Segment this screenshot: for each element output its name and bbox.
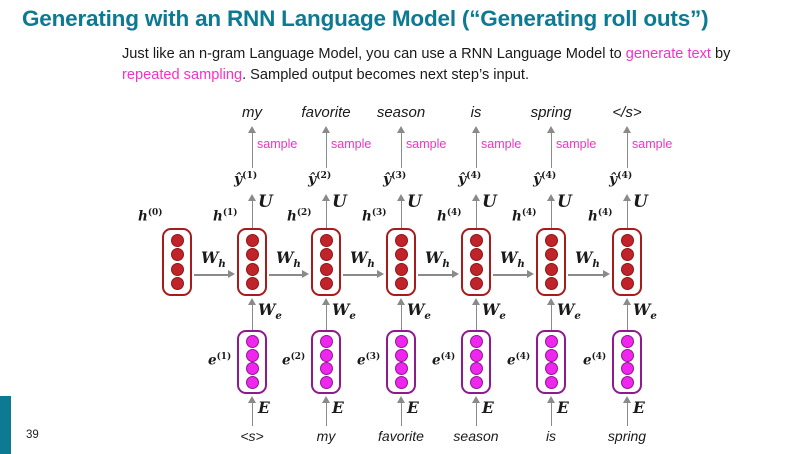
arrow-shaft <box>194 274 230 276</box>
we-arrow-6 <box>623 298 632 330</box>
E-arrow-3 <box>397 396 406 426</box>
we-arrow-3 <box>397 298 406 330</box>
E-label-6: E <box>633 398 645 417</box>
input-word-6: spring <box>608 428 646 444</box>
hidden-unit-node <box>545 263 558 276</box>
arrow-shaft <box>627 303 629 330</box>
hidden-state-label-4: h(4) <box>437 208 461 225</box>
arrow-head-icon <box>377 270 384 278</box>
embedding-label-5: e(4) <box>507 352 530 369</box>
wh-arrow-4 <box>493 270 534 279</box>
hidden-state-label-1: h(1) <box>213 208 237 225</box>
hidden-unit-node <box>621 263 634 276</box>
hidden-state-label-5: h(4) <box>512 208 536 225</box>
arrow-head-icon <box>228 270 235 278</box>
slide-canvas: Generating with an RNN Language Model (“… <box>0 0 812 454</box>
arrow-head-icon <box>603 270 610 278</box>
arrow-shaft <box>401 199 403 228</box>
arrow-shaft <box>551 199 553 228</box>
arrow-shaft <box>401 303 403 330</box>
arrow-head-icon <box>302 270 309 278</box>
embedding-unit-node <box>621 362 634 375</box>
arrow-shaft <box>326 401 328 426</box>
arrow-shaft <box>627 401 629 426</box>
arrow-shaft <box>252 303 254 330</box>
sample-label-6: sample <box>632 137 672 151</box>
wh-label-0: Wh <box>201 248 226 270</box>
arrow-shaft <box>343 274 379 276</box>
output-dist-label-5: ŷ(4) <box>533 170 556 188</box>
hidden-state-label-6: h(4) <box>588 208 612 225</box>
E-arrow-5 <box>547 396 556 426</box>
U-arrow-6 <box>623 194 632 228</box>
wh-arrow-1 <box>269 270 309 279</box>
hidden-unit-node <box>545 277 558 290</box>
input-word-5: is <box>546 428 556 444</box>
subtitle-text: Just like an n-gram Language Model, you … <box>122 44 742 86</box>
embedding-unit-node <box>621 349 634 362</box>
embedding-label-2: e(2) <box>282 352 305 369</box>
subtitle-part-2: by <box>711 46 730 62</box>
subtitle-part-3: . Sampled output becomes next step’s inp… <box>242 67 529 83</box>
output-dist-label-6: ŷ(4) <box>609 170 632 188</box>
hidden-unit-node <box>621 277 634 290</box>
embedding-box-6 <box>612 330 642 394</box>
embedding-label-3: e(3) <box>357 352 380 369</box>
wh-arrow-3 <box>418 270 459 279</box>
wh-label-5: Wh <box>575 248 600 270</box>
embedding-unit-node <box>621 376 634 389</box>
arrow-shaft <box>326 303 328 330</box>
arrow-shaft <box>493 274 529 276</box>
embedding-unit-node <box>545 376 558 389</box>
arrow-shaft <box>401 401 403 426</box>
hidden-state-box-6 <box>612 228 642 296</box>
arrow-shaft <box>269 274 304 276</box>
output-dist-label-4: ŷ(4) <box>458 170 481 188</box>
hidden-unit-node <box>621 248 634 261</box>
U-arrow-2 <box>322 194 331 228</box>
arrow-shaft <box>551 401 553 426</box>
E-arrow-6 <box>623 396 632 426</box>
E-arrow-4 <box>472 396 481 426</box>
output-dist-label-3: ŷ(3) <box>383 170 406 188</box>
wh-label-1: Wh <box>276 248 301 270</box>
arrow-head-icon <box>527 270 534 278</box>
wh-arrow-0 <box>194 270 235 279</box>
sample-arrow-5 <box>547 126 556 168</box>
subtitle-part-1: Just like an n-gram Language Model, you … <box>122 46 626 62</box>
embedding-label-4: e(4) <box>432 352 455 369</box>
arrow-head-icon <box>452 270 459 278</box>
arrow-shaft <box>476 199 478 228</box>
arrow-shaft <box>568 274 605 276</box>
arrow-shaft <box>476 131 478 168</box>
subtitle-highlight-generate-text: generate text <box>626 46 711 62</box>
arrow-shaft <box>326 199 328 228</box>
hidden-unit-node <box>621 234 634 247</box>
arrow-shaft <box>627 199 629 228</box>
sample-arrow-6 <box>623 126 632 168</box>
E-arrow-2 <box>322 396 331 426</box>
arrow-shaft <box>401 131 403 168</box>
embedding-label-6: e(4) <box>583 352 606 369</box>
arrow-shaft <box>551 303 553 330</box>
page-title: Generating with an RNN Language Model (“… <box>22 6 812 32</box>
we-arrow-2 <box>322 298 331 330</box>
rnn-unrolled-diagram: h(0)h(1)e(1)WeE<s>Uŷ(1)samplemyh(2)e(2)W… <box>0 96 812 454</box>
U-label-6: U <box>633 192 648 212</box>
output-dist-label-1: ŷ(1) <box>234 170 257 188</box>
sample-arrow-4 <box>472 126 481 168</box>
sample-arrow-2 <box>322 126 331 168</box>
arrow-shaft <box>551 131 553 168</box>
hidden-state-label-0: h(0) <box>138 208 162 225</box>
U-arrow-3 <box>397 194 406 228</box>
U-arrow-5 <box>547 194 556 228</box>
embedding-unit-node <box>621 335 634 348</box>
embedding-unit-node <box>545 349 558 362</box>
arrow-shaft <box>326 131 328 168</box>
hidden-unit-node <box>545 234 558 247</box>
we-label-6: We <box>633 300 657 322</box>
wh-label-3: Wh <box>425 248 450 270</box>
wh-arrow-2 <box>343 270 384 279</box>
hidden-state-label-3: h(3) <box>362 208 386 225</box>
arrow-shaft <box>252 401 254 426</box>
hidden-state-label-2: h(2) <box>287 208 311 225</box>
arrow-shaft <box>252 131 254 168</box>
wh-label-2: Wh <box>350 248 375 270</box>
wh-label-4: Wh <box>500 248 525 270</box>
hidden-unit-node <box>545 248 558 261</box>
arrow-shaft <box>252 199 254 228</box>
embedding-label-1: e(1) <box>208 352 231 369</box>
we-arrow-5 <box>547 298 556 330</box>
wh-arrow-5 <box>568 270 610 279</box>
output-word-6: </s> <box>612 104 641 121</box>
arrow-shaft <box>627 131 629 168</box>
sample-arrow-3 <box>397 126 406 168</box>
subtitle-highlight-repeated-sampling: repeated sampling <box>122 67 242 83</box>
U-arrow-4 <box>472 194 481 228</box>
output-word-4: is <box>471 104 482 121</box>
arrow-shaft <box>476 401 478 426</box>
arrow-shaft <box>418 274 454 276</box>
output-dist-label-2: ŷ(2) <box>308 170 331 188</box>
we-arrow-4 <box>472 298 481 330</box>
arrow-shaft <box>476 303 478 330</box>
embedding-unit-node <box>545 335 558 348</box>
embedding-unit-node <box>545 362 558 375</box>
